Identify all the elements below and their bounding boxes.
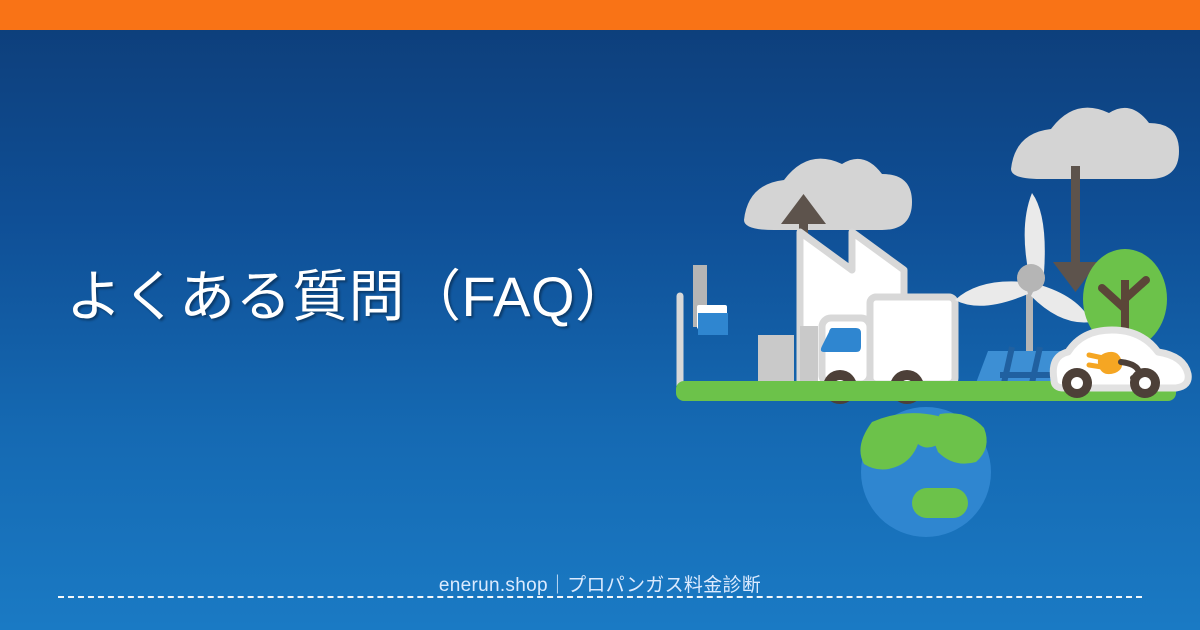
electric-car-icon: [1053, 330, 1188, 398]
eco-energy-illustration: [640, 70, 1200, 560]
globe-icon: [860, 407, 991, 537]
accent-top-bar: [0, 0, 1200, 30]
footer-branding: enerun.shop｜プロパンガス料金診断: [0, 570, 1200, 597]
page-title: よくある質問（FAQ）: [66, 262, 632, 332]
slide-canvas: よくある質問（FAQ）: [0, 0, 1200, 630]
